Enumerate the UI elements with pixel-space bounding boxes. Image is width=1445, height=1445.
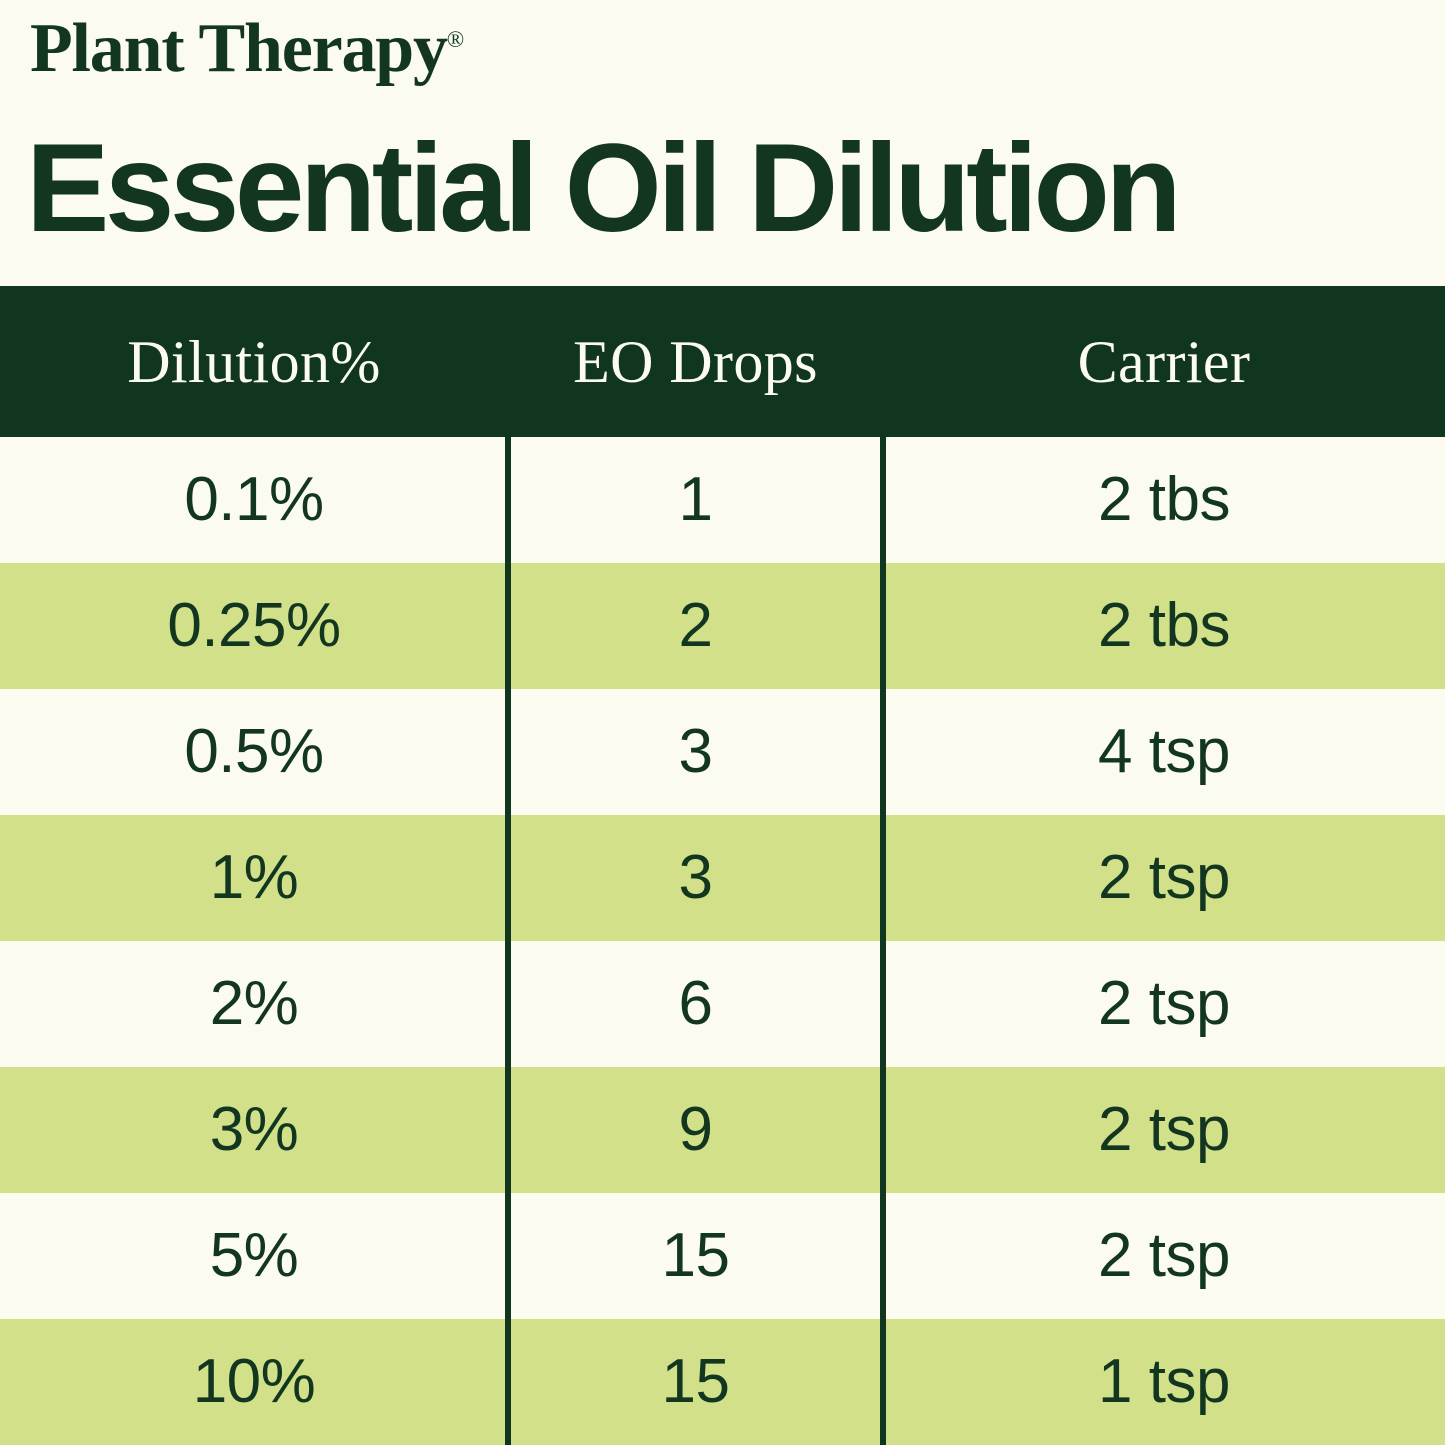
dilution-table: Dilution% EO Drops Carrier 0.1% 1 2 tbs … [0, 286, 1445, 1445]
cell-carrier: 2 tsp [883, 941, 1445, 1067]
cell-carrier: 1 tsp [883, 1319, 1445, 1445]
dilution-chart-page: Plant Therapy® Essential Oil Dilution Di… [0, 0, 1445, 1445]
table-body: 0.1% 1 2 tbs 0.25% 2 2 tbs 0.5% 3 4 tsp … [0, 437, 1445, 1445]
cell-carrier: 2 tbs [883, 563, 1445, 689]
page-title: Essential Oil Dilution [26, 126, 1177, 251]
column-header-carrier: Carrier [883, 286, 1445, 437]
cell-eo-drops: 1 [508, 437, 883, 563]
table-row: 0.5% 3 4 tsp [0, 689, 1445, 815]
cell-dilution: 2% [0, 941, 508, 1067]
cell-dilution: 10% [0, 1319, 508, 1445]
cell-eo-drops: 2 [508, 563, 883, 689]
column-header-eo-drops: EO Drops [508, 286, 883, 437]
cell-dilution: 5% [0, 1193, 508, 1319]
cell-dilution: 0.25% [0, 563, 508, 689]
cell-dilution: 0.1% [0, 437, 508, 563]
cell-dilution: 1% [0, 815, 508, 941]
table-row: 5% 15 2 tsp [0, 1193, 1445, 1319]
table-row: 2% 6 2 tsp [0, 941, 1445, 1067]
brand-logo: Plant Therapy® [30, 14, 464, 84]
cell-carrier: 2 tsp [883, 815, 1445, 941]
table-row: 0.25% 2 2 tbs [0, 563, 1445, 689]
registered-trademark-icon: ® [447, 27, 464, 52]
cell-eo-drops: 3 [508, 689, 883, 815]
table-row: 1% 3 2 tsp [0, 815, 1445, 941]
cell-eo-drops: 15 [508, 1319, 883, 1445]
table-row: 10% 15 1 tsp [0, 1319, 1445, 1445]
cell-eo-drops: 15 [508, 1193, 883, 1319]
cell-dilution: 0.5% [0, 689, 508, 815]
cell-eo-drops: 6 [508, 941, 883, 1067]
cell-carrier: 4 tsp [883, 689, 1445, 815]
masthead: Plant Therapy® Essential Oil Dilution [0, 0, 1445, 286]
table-header-row: Dilution% EO Drops Carrier [0, 286, 1445, 437]
cell-carrier: 2 tsp [883, 1067, 1445, 1193]
table-row: 3% 9 2 tsp [0, 1067, 1445, 1193]
table-row: 0.1% 1 2 tbs [0, 437, 1445, 563]
cell-dilution: 3% [0, 1067, 508, 1193]
cell-carrier: 2 tbs [883, 437, 1445, 563]
cell-eo-drops: 9 [508, 1067, 883, 1193]
brand-name: Plant Therapy [30, 10, 447, 87]
column-header-dilution: Dilution% [0, 286, 508, 437]
cell-carrier: 2 tsp [883, 1193, 1445, 1319]
cell-eo-drops: 3 [508, 815, 883, 941]
